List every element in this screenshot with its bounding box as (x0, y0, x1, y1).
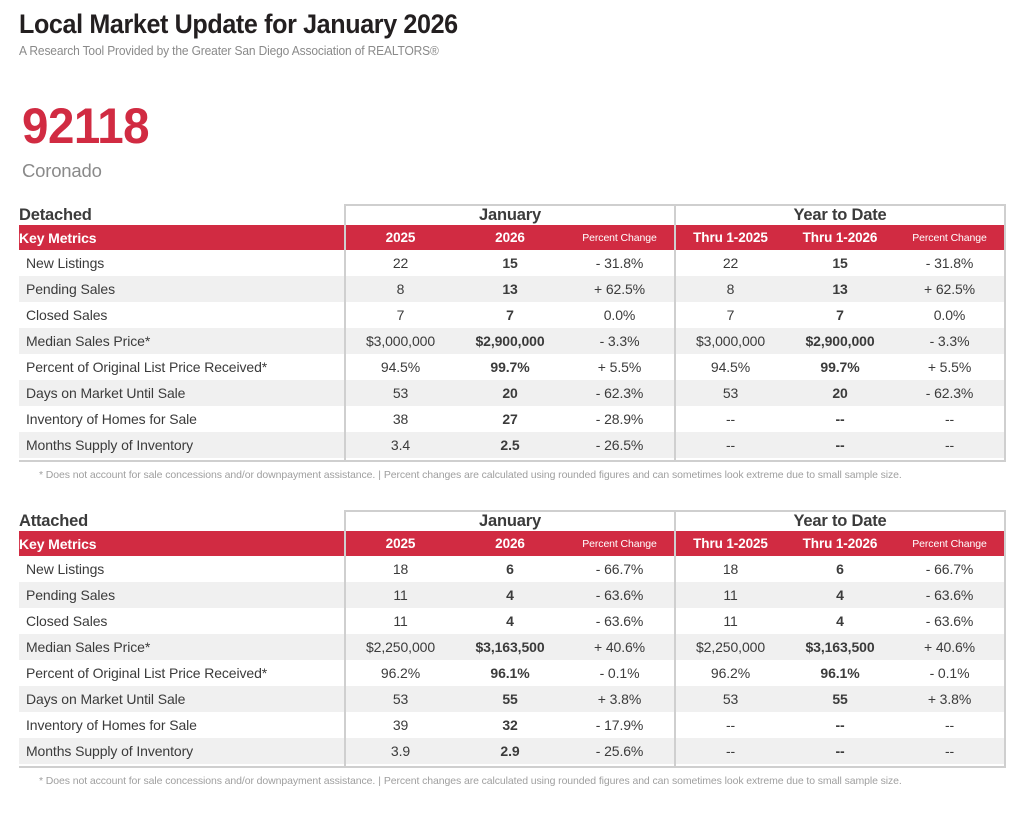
metric-value: - 25.6% (565, 738, 675, 764)
metric-value: $3,000,000 (345, 328, 455, 354)
table-row: Median Sales Price*$2,250,000$3,163,500+… (19, 634, 1005, 660)
metric-value: 11 (345, 582, 455, 608)
table-row: Closed Sales114- 63.6%114- 63.6% (19, 608, 1005, 634)
table-row: Median Sales Price*$3,000,000$2,900,000-… (19, 328, 1005, 354)
metric-value: 7 (785, 302, 895, 328)
footnote-part2: Percent changes are calculated using rou… (384, 469, 902, 481)
metric-label: Days on Market Until Sale (19, 686, 345, 712)
metric-label: Pending Sales (19, 276, 345, 302)
table-row: Pending Sales114- 63.6%114- 63.6% (19, 582, 1005, 608)
metric-value: 20 (455, 380, 565, 406)
metric-value: $2,250,000 (345, 634, 455, 660)
key-metrics-label: Key Metrics (19, 531, 345, 556)
city-name: Coronado (22, 160, 1024, 182)
border-cell (675, 764, 785, 767)
column-header-thru-1-2026: Thru 1-2026 (785, 531, 895, 556)
metric-label: Median Sales Price* (19, 634, 345, 660)
metric-value: $3,163,500 (455, 634, 565, 660)
table-bottom-border (19, 764, 1005, 767)
metric-value: -- (785, 738, 895, 764)
metric-label: Percent of Original List Price Received* (19, 354, 345, 380)
metric-value: -- (895, 738, 1005, 764)
metric-value: 15 (455, 250, 565, 276)
column-header-2025: 2025 (345, 225, 455, 250)
metric-value: 53 (675, 686, 785, 712)
metric-value: 39 (345, 712, 455, 738)
metric-value: $2,900,000 (785, 328, 895, 354)
footnote-part1: * Does not account for sale concessions … (39, 775, 375, 787)
metric-value: 38 (345, 406, 455, 432)
metric-value: + 40.6% (895, 634, 1005, 660)
metric-value: 11 (675, 582, 785, 608)
group-label-year-to-date: Year to Date (675, 511, 1005, 531)
metric-value: 13 (785, 276, 895, 302)
metric-label: New Listings (19, 556, 345, 582)
metric-value: 7 (455, 302, 565, 328)
metric-value: 55 (455, 686, 565, 712)
footnote-part2: Percent changes are calculated using rou… (384, 775, 902, 787)
metric-label: New Listings (19, 250, 345, 276)
footnote-separator: | (375, 775, 384, 787)
metric-label: Inventory of Homes for Sale (19, 712, 345, 738)
metric-value: -- (895, 432, 1005, 458)
metric-value: -- (675, 738, 785, 764)
section-title: Detached (19, 205, 345, 225)
metric-value: 4 (455, 582, 565, 608)
metric-value: 6 (455, 556, 565, 582)
group-label-january: January (345, 511, 675, 531)
metric-value: 13 (455, 276, 565, 302)
column-header-2025: 2025 (345, 531, 455, 556)
table-row: Inventory of Homes for Sale3932- 17.9%--… (19, 712, 1005, 738)
column-header-percent-change: Percent Change (565, 531, 675, 556)
metric-value: - 63.6% (565, 608, 675, 634)
border-cell (785, 764, 895, 767)
metric-value: 11 (345, 608, 455, 634)
border-cell (345, 764, 455, 767)
metric-value: + 3.8% (565, 686, 675, 712)
metric-value: 4 (455, 608, 565, 634)
metric-value: 18 (345, 556, 455, 582)
table-row: New Listings2215- 31.8%2215- 31.8% (19, 250, 1005, 276)
metric-value: 27 (455, 406, 565, 432)
metric-value: -- (895, 406, 1005, 432)
metric-value: + 5.5% (895, 354, 1005, 380)
metric-value: - 62.3% (895, 380, 1005, 406)
metric-value: + 40.6% (565, 634, 675, 660)
metric-value: - 63.6% (895, 608, 1005, 634)
group-label-january: January (345, 205, 675, 225)
border-cell (785, 458, 895, 461)
footnote-part1: * Does not account for sale concessions … (39, 469, 375, 481)
metric-value: - 0.1% (895, 660, 1005, 686)
metric-value: 96.2% (675, 660, 785, 686)
metric-value: 18 (675, 556, 785, 582)
metric-value: 96.1% (785, 660, 895, 686)
metric-value: - 31.8% (565, 250, 675, 276)
detached-market-table: DetachedJanuaryYear to DateKey Metrics20… (19, 204, 1006, 462)
page-subtitle: A Research Tool Provided by the Greater … (19, 44, 984, 58)
column-header-percent-change: Percent Change (895, 531, 1005, 556)
metric-value: - 17.9% (565, 712, 675, 738)
metric-value: - 3.3% (565, 328, 675, 354)
metric-label: Median Sales Price* (19, 328, 345, 354)
zip-code: 92118 (22, 101, 974, 151)
table-row: Months Supply of Inventory3.42.5- 26.5%-… (19, 432, 1005, 458)
border-cell (895, 764, 1005, 767)
market-update-page: Local Market Update for January 2026 A R… (0, 0, 1024, 837)
attached-market-table: AttachedJanuaryYear to DateKey Metrics20… (19, 510, 1006, 768)
table-row: Inventory of Homes for Sale3827- 28.9%--… (19, 406, 1005, 432)
border-cell (19, 764, 345, 767)
metric-value: - 0.1% (565, 660, 675, 686)
footnote-separator: | (375, 469, 384, 481)
table-row: Months Supply of Inventory3.92.9- 25.6%-… (19, 738, 1005, 764)
metric-value: -- (675, 432, 785, 458)
metric-value: $3,163,500 (785, 634, 895, 660)
metric-value: $2,250,000 (675, 634, 785, 660)
column-header-percent-change: Percent Change (565, 225, 675, 250)
metric-label: Days on Market Until Sale (19, 380, 345, 406)
metric-value: + 3.8% (895, 686, 1005, 712)
table-row: Percent of Original List Price Received*… (19, 660, 1005, 686)
metric-value: $3,000,000 (675, 328, 785, 354)
metric-value: 53 (345, 686, 455, 712)
metric-value: 3.9 (345, 738, 455, 764)
detached-table-wrapper: DetachedJanuaryYear to DateKey Metrics20… (0, 204, 1024, 481)
metric-value: 3.4 (345, 432, 455, 458)
column-header-2026: 2026 (455, 531, 565, 556)
metric-value: + 5.5% (565, 354, 675, 380)
column-header-percent-change: Percent Change (895, 225, 1005, 250)
border-cell (895, 458, 1005, 461)
column-header-2026: 2026 (455, 225, 565, 250)
metric-label: Closed Sales (19, 302, 345, 328)
metric-value: 8 (345, 276, 455, 302)
metric-value: + 62.5% (565, 276, 675, 302)
metric-label: Closed Sales (19, 608, 345, 634)
metric-value: 20 (785, 380, 895, 406)
key-metrics-header-row: Key Metrics20252026Percent ChangeThru 1-… (19, 225, 1005, 250)
section-title: Attached (19, 511, 345, 531)
metric-value: - 66.7% (895, 556, 1005, 582)
metric-value: 22 (675, 250, 785, 276)
metric-label: Months Supply of Inventory (19, 432, 345, 458)
metric-value: 0.0% (565, 302, 675, 328)
metric-value: - 28.9% (565, 406, 675, 432)
metric-value: -- (895, 712, 1005, 738)
page-title: Local Market Update for January 2026 (19, 10, 954, 39)
group-label-year-to-date: Year to Date (675, 205, 1005, 225)
metric-value: 96.2% (345, 660, 455, 686)
table-row: Closed Sales770.0%770.0% (19, 302, 1005, 328)
table-row: Pending Sales813+ 62.5%813+ 62.5% (19, 276, 1005, 302)
detached-footnote: * Does not account for sale concessions … (19, 462, 1005, 481)
group-header-row: AttachedJanuaryYear to Date (19, 511, 1005, 531)
metric-value: -- (675, 712, 785, 738)
metric-value: - 26.5% (565, 432, 675, 458)
border-cell (565, 764, 675, 767)
metric-value: + 62.5% (895, 276, 1005, 302)
metric-value: 4 (785, 608, 895, 634)
metric-value: 53 (345, 380, 455, 406)
area-identifier: 92118 Coronado (0, 58, 1024, 182)
metric-value: - 63.6% (895, 582, 1005, 608)
metric-value: 2.5 (455, 432, 565, 458)
metric-value: - 3.3% (895, 328, 1005, 354)
key-metrics-header-row: Key Metrics20252026Percent ChangeThru 1-… (19, 531, 1005, 556)
metric-value: 53 (675, 380, 785, 406)
metric-value: 55 (785, 686, 895, 712)
border-cell (565, 458, 675, 461)
column-header-thru-1-2026: Thru 1-2026 (785, 225, 895, 250)
metric-label: Pending Sales (19, 582, 345, 608)
metric-value: -- (675, 406, 785, 432)
border-cell (345, 458, 455, 461)
border-cell (455, 764, 565, 767)
metric-value: -- (785, 406, 895, 432)
metric-value: - 63.6% (565, 582, 675, 608)
metric-value: 7 (345, 302, 455, 328)
column-header-thru-1-2025: Thru 1-2025 (675, 531, 785, 556)
metric-value: 94.5% (675, 354, 785, 380)
detached-table-body: DetachedJanuaryYear to DateKey Metrics20… (19, 205, 1005, 461)
column-header-thru-1-2025: Thru 1-2025 (675, 225, 785, 250)
metric-value: -- (785, 432, 895, 458)
border-cell (675, 458, 785, 461)
metric-value: - 66.7% (565, 556, 675, 582)
group-header-row: DetachedJanuaryYear to Date (19, 205, 1005, 225)
metric-value: - 62.3% (565, 380, 675, 406)
metric-value: - 31.8% (895, 250, 1005, 276)
border-cell (455, 458, 565, 461)
metric-value: 7 (675, 302, 785, 328)
metric-value: 4 (785, 582, 895, 608)
metric-value: 15 (785, 250, 895, 276)
report-header: Local Market Update for January 2026 A R… (0, 0, 1024, 58)
table-row: Percent of Original List Price Received*… (19, 354, 1005, 380)
attached-table-wrapper: AttachedJanuaryYear to DateKey Metrics20… (0, 510, 1024, 787)
metric-value: 96.1% (455, 660, 565, 686)
metric-value: 6 (785, 556, 895, 582)
table-row: Days on Market Until Sale5355+ 3.8%5355+… (19, 686, 1005, 712)
metric-label: Inventory of Homes for Sale (19, 406, 345, 432)
attached-table-body: AttachedJanuaryYear to DateKey Metrics20… (19, 511, 1005, 767)
metric-label: Percent of Original List Price Received* (19, 660, 345, 686)
metric-value: 2.9 (455, 738, 565, 764)
table-bottom-border (19, 458, 1005, 461)
metric-value: 22 (345, 250, 455, 276)
table-row: Days on Market Until Sale5320- 62.3%5320… (19, 380, 1005, 406)
metric-value: 8 (675, 276, 785, 302)
metric-value: 99.7% (785, 354, 895, 380)
metric-value: $2,900,000 (455, 328, 565, 354)
attached-footnote: * Does not account for sale concessions … (19, 768, 1005, 787)
border-cell (19, 458, 345, 461)
table-row: New Listings186- 66.7%186- 66.7% (19, 556, 1005, 582)
metric-value: -- (785, 712, 895, 738)
metric-value: 11 (675, 608, 785, 634)
metric-value: 99.7% (455, 354, 565, 380)
metric-label: Months Supply of Inventory (19, 738, 345, 764)
metric-value: 32 (455, 712, 565, 738)
metric-value: 94.5% (345, 354, 455, 380)
metric-value: 0.0% (895, 302, 1005, 328)
key-metrics-label: Key Metrics (19, 225, 345, 250)
